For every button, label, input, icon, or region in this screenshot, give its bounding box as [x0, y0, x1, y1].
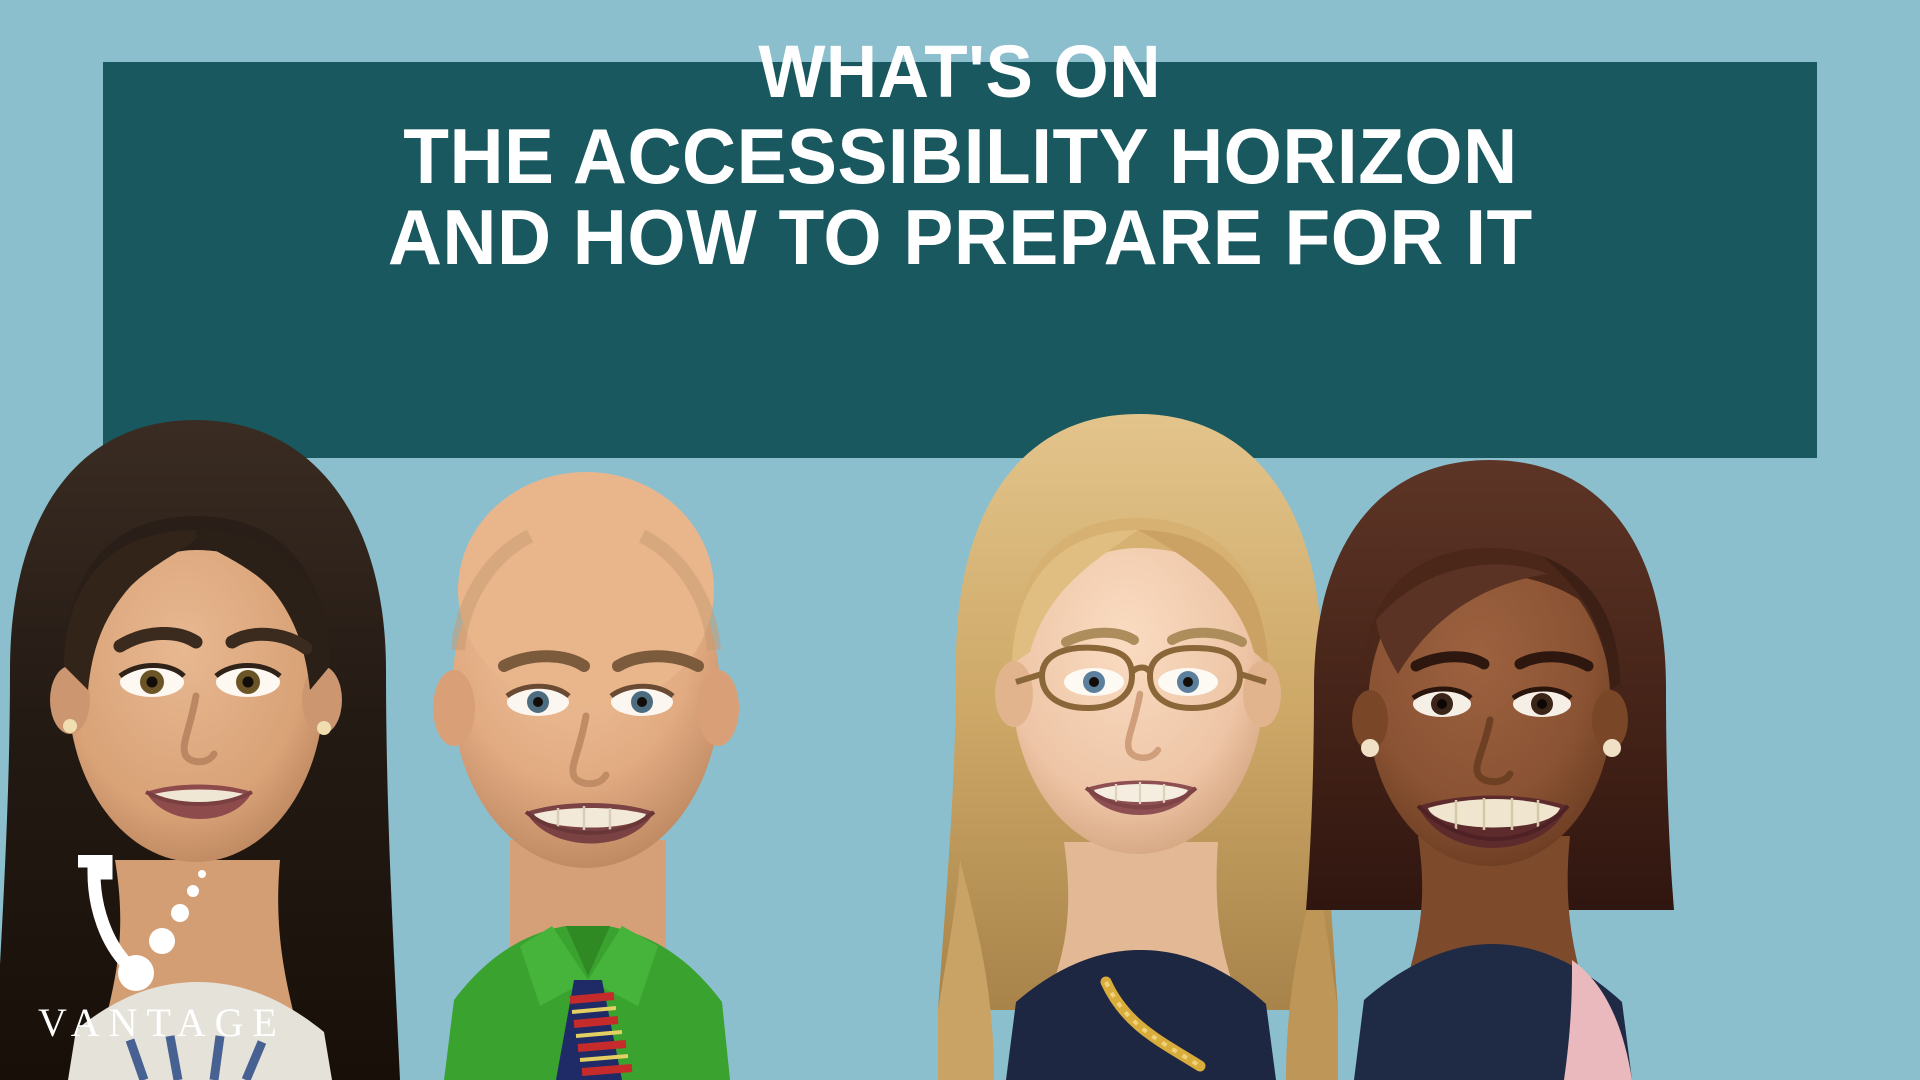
vantage-dot-4	[198, 870, 206, 878]
vantage-logo: VANTAGE	[38, 855, 308, 1070]
title-line-1: WHAT'S ON	[759, 34, 1162, 110]
vantage-dot-2	[171, 904, 189, 922]
vantage-v-mark-icon	[66, 855, 216, 1005]
vantage-dot-1	[149, 928, 175, 954]
title-line-3: AND HOW TO PREPARE FOR IT	[388, 197, 1533, 277]
vantage-wordmark: VANTAGE	[38, 1003, 298, 1043]
title-line-2: THE ACCESSIBILITY HORIZON	[403, 116, 1517, 196]
vantage-dot-3	[187, 885, 199, 897]
promo-banner: WHAT'S ON THE ACCESSIBILITY HORIZON AND …	[0, 0, 1920, 1080]
